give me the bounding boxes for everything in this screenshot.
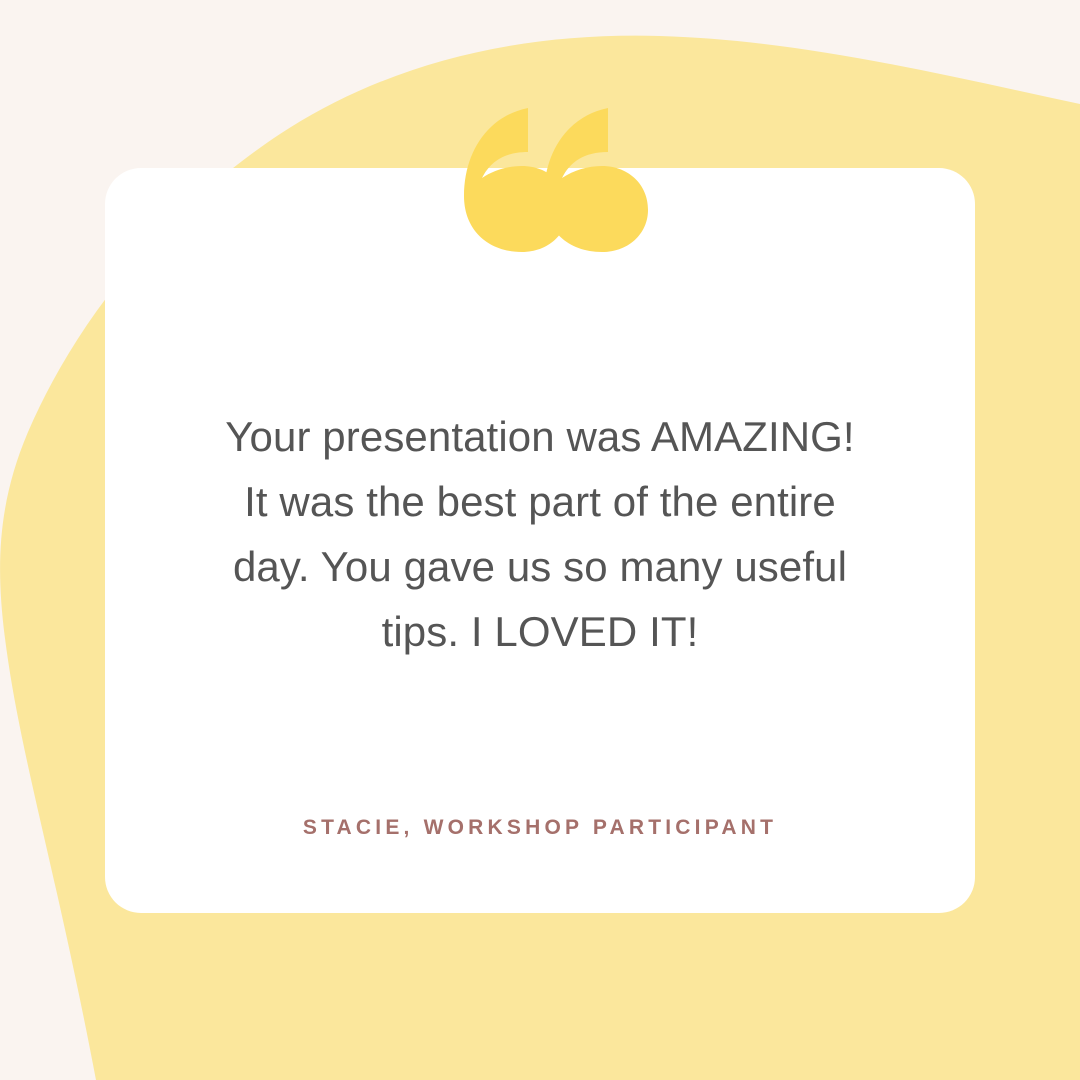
quote-mark-icon <box>432 108 648 252</box>
quote-line-3: day. You gave us so many useful <box>150 534 930 599</box>
quote-text-block: Your presentation was AMAZING! It was th… <box>150 404 930 664</box>
attribution: STACIE, WORKSHOP PARTICIPANT <box>150 816 930 840</box>
quote-line-4: tips. I LOVED IT! <box>150 599 930 664</box>
quote-mark-glyph <box>432 108 648 252</box>
attribution-text: STACIE, WORKSHOP PARTICIPANT <box>303 816 777 839</box>
quote-line-2: It was the best part of the entire <box>150 469 930 534</box>
testimonial-graphic: Your presentation was AMAZING! It was th… <box>0 0 1080 1080</box>
quote-line-1: Your presentation was AMAZING! <box>150 404 930 469</box>
